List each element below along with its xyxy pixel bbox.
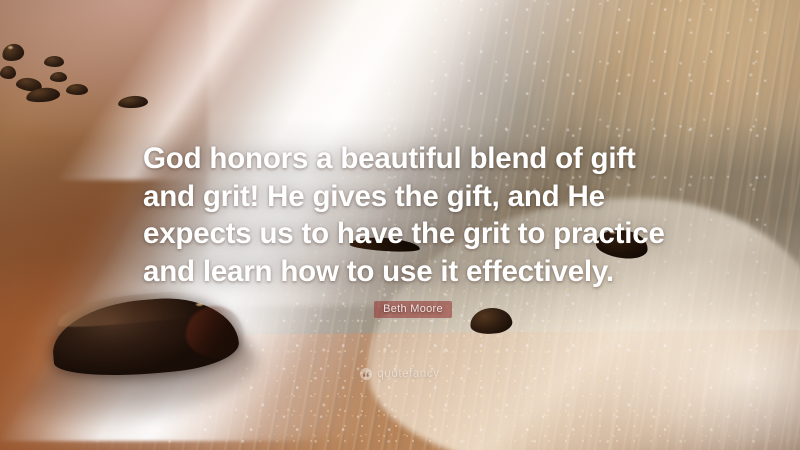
quote-line: expects us to have the grit to practice	[143, 215, 683, 253]
quote-text: God honors a beautiful blend of gift and…	[143, 140, 683, 290]
quote-line: and learn how to use it effectively.	[143, 253, 683, 291]
quotefancy-brand-label: quotefancy	[377, 368, 439, 380]
quote-mark-icon	[360, 368, 372, 380]
quotefancy-watermark[interactable]: quotefancy	[0, 368, 800, 380]
text-overlay: God honors a beautiful blend of gift and…	[0, 0, 800, 450]
author-name-badge[interactable]: Beth Moore	[374, 301, 452, 318]
quote-line: and grit! He gives the gift, and He	[143, 178, 683, 216]
author-attribution: Beth Moore	[143, 299, 683, 318]
quote-line: God honors a beautiful blend of gift	[143, 140, 683, 178]
quote-poster: God honors a beautiful blend of gift and…	[0, 0, 800, 450]
